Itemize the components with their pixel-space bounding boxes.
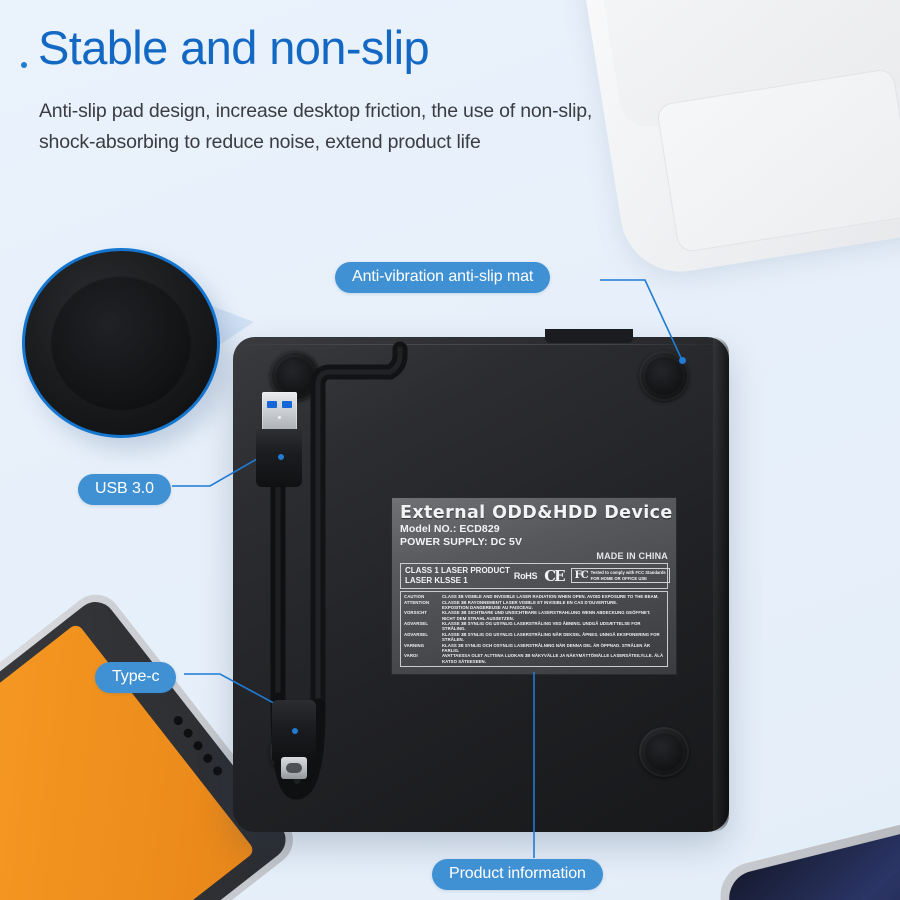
laser-warning-box: CAUTION CLASS 3B VISIBLE AND INVISIBLE L… — [400, 591, 668, 667]
product-label-origin: MADE IN CHINA — [400, 551, 668, 561]
product-label-power: POWER SUPPLY: DC 5V — [400, 536, 668, 549]
callout-dot-usb — [21, 62, 27, 68]
usb-3-connector — [256, 392, 302, 484]
product-label-model: Model NO.: ECD829 — [400, 523, 668, 536]
fcc-mark-text: FC — [575, 570, 588, 581]
fcc-note-line-2: FOR HOME OR OFFICE USE — [591, 576, 666, 581]
certification-row: CLASS 1 LASER PRODUCT LASER KLSSE 1 RoHS… — [400, 563, 668, 590]
warning-text: KLASS 3B SYNLIG OCH OSYNLIG LASERSTRÅLNI… — [442, 643, 664, 654]
warning-lang: VARNING — [404, 643, 438, 654]
laser-class-text: CLASS 1 LASER PRODUCT LASER KLSSE 1 — [405, 566, 510, 587]
magnified-anti-slip-pad — [22, 248, 220, 438]
warning-row: VARNING KLASS 3B SYNLIG OCH OSYNLIG LASE… — [404, 643, 664, 654]
product-label-title: External ODD&HDD Device — [400, 504, 668, 523]
ce-icon: CE — [544, 567, 563, 585]
callout-usb-30[interactable]: USB 3.0 — [78, 474, 171, 505]
anti-slip-pad-bottom-right — [639, 727, 689, 777]
rohs-icon: RoHS — [514, 571, 537, 581]
warning-lang: ADVARSEL — [404, 632, 438, 643]
page-subtitle: Anti-slip pad design, increase desktop f… — [39, 96, 609, 158]
warning-lang: VAROI — [404, 653, 438, 664]
laser-class-line-2: LASER KLSSE 1 — [405, 576, 510, 586]
warning-text: AVATTAESSA OLET ALTTIINA LUOKAN 3B NÄKYV… — [442, 653, 664, 664]
warning-row: ADVARSEL KLASSE 3B SYNLIG OG USYNLIG LAS… — [404, 632, 664, 643]
warning-text: KLASSE 3B SYNLIG OG USYNLIG LASERSTRÅLIN… — [442, 632, 664, 643]
callout-anti-vibration-mat[interactable]: Anti-vibration anti-slip mat — [335, 262, 550, 293]
usb-callout-dot — [278, 454, 284, 460]
warning-text-chinese: 通电状态下的激光可见及不可见光辐射避免暴露地区射程光束下 — [404, 666, 664, 667]
product-marketing-banner: fn control alt option — [0, 0, 900, 900]
laser-class-line-1: CLASS 1 LASER PRODUCT — [405, 566, 510, 576]
product-label: External ODD&HDD Device Model NO.: ECD82… — [391, 497, 677, 675]
callout-dot-mat — [679, 357, 686, 364]
fcc-note: Tested to comply with FCC Standards FOR … — [591, 570, 666, 581]
callout-type-c[interactable]: Type-c — [95, 662, 176, 693]
callout-product-information[interactable]: Product information — [432, 859, 603, 890]
type-c-connector — [272, 700, 316, 780]
warning-row: VAROI AVATTAESSA OLET ALTTIINA LUOKAN 3B… — [404, 653, 664, 664]
usb-metal-head — [262, 392, 297, 432]
device-top-seam — [233, 344, 729, 345]
warning-text: KLASSE 3B SYNLIG OG USYNLIG LASERSTRÅLIN… — [442, 621, 664, 632]
device-cable-notch — [545, 329, 633, 343]
fcc-icon: FC Tested to comply with FCC Standards F… — [571, 568, 670, 583]
warning-lang: ADVARSEL — [404, 621, 438, 632]
warning-row: ADVARSEL KLASSE 3B SYNLIG OG USYNLIG LAS… — [404, 621, 664, 632]
device-right-edge — [713, 337, 729, 832]
page-title: Stable and non-slip — [38, 22, 429, 74]
certification-marks: RoHS CE FC Tested to comply with FCC Sta… — [514, 567, 670, 585]
type-c-callout-dot — [292, 728, 298, 734]
type-c-tip — [281, 757, 307, 779]
